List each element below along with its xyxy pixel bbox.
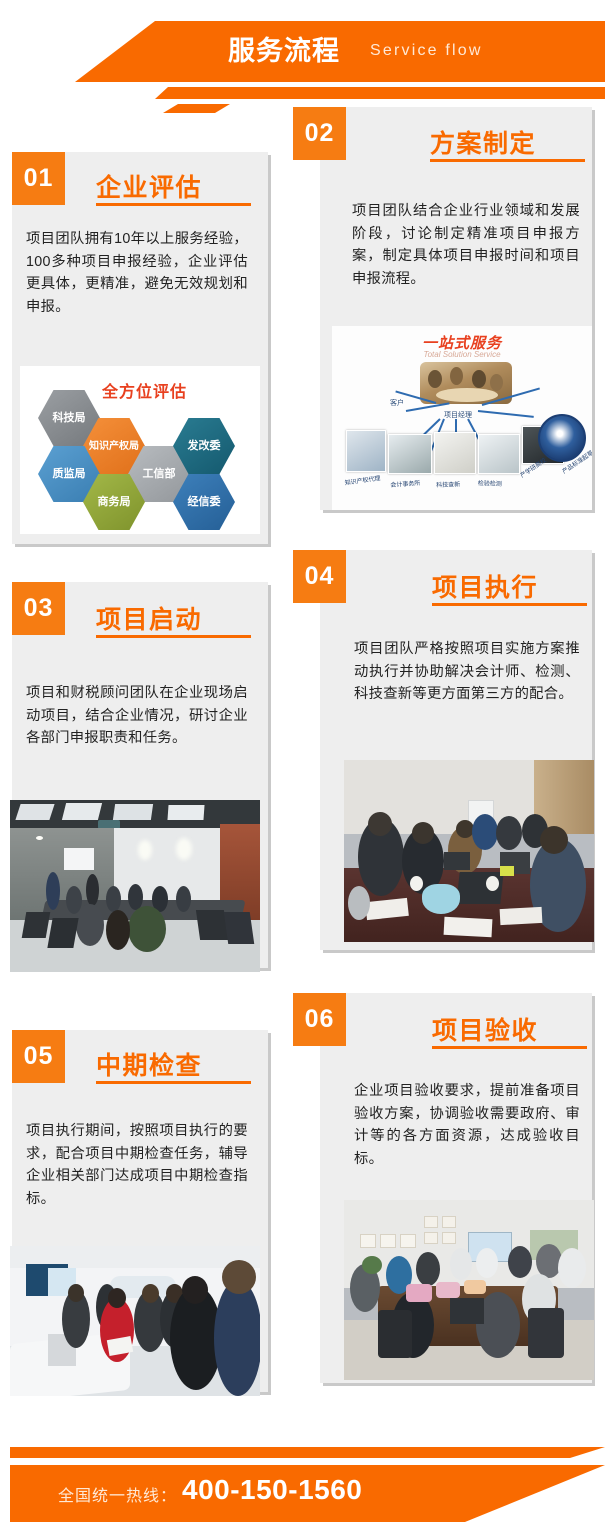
photo6-cert-f (424, 1232, 438, 1244)
card-05-title: 中期检查 (96, 1046, 202, 1082)
card-03-number-badge: 03 (12, 582, 65, 635)
one-stop-client-label: 客户 (390, 398, 404, 408)
photo4-person-5 (496, 816, 522, 850)
card-06-title-rule (432, 1046, 587, 1049)
header-stripe-shape (0, 87, 605, 99)
photo4-person-right-head (540, 826, 568, 854)
card-05-body: 项目执行期间，按照项目执行的要求，配合项目中期检查任务，辅导企业相关部门达成项目… (26, 1120, 248, 1210)
photo3-light-c (176, 838, 192, 860)
photo4-person-2-head (412, 822, 434, 844)
showroom-visit-photo (10, 1246, 260, 1396)
photo3-person-hair (106, 910, 130, 950)
photo3-person-green-coat (128, 906, 166, 952)
hub-person-d (490, 374, 503, 391)
card-03-body: 项目和财税顾问团队在企业现场启动项目，结合企业情况，研讨企业各部门申报职责和任务… (26, 682, 248, 750)
caption-accounting: 会计事务所 (390, 478, 421, 489)
photo3-light-a (36, 836, 43, 840)
node-ip-agency (346, 430, 386, 472)
hub-person-a (428, 370, 442, 388)
photo3-person-5 (176, 886, 191, 912)
photo6-cert-c (400, 1234, 416, 1248)
card-04-body: 项目团队严格按照项目实施方案推动执行并协助解决会计师、检测、科技查新等更方面第三… (354, 638, 580, 706)
card-01-body: 项目团队拥有10年以上服务经验，100多种项目申报经验，企业评估更具体，更精准，… (26, 228, 248, 318)
page-subtitle: Service flow (370, 42, 483, 60)
caption-ip-agency: 知识产权代理 (344, 473, 381, 487)
caption-tech-search: 科技查新 (436, 479, 460, 489)
card-02-title: 方案制定 (430, 124, 536, 160)
photo6-person-3 (416, 1252, 440, 1286)
photo3-light-b (138, 840, 152, 860)
card-06-number-badge: 06 (293, 993, 346, 1046)
arrow-7 (478, 410, 534, 418)
photo5-person-red-head (108, 1288, 126, 1308)
page-title: 服务流程 (228, 32, 340, 70)
photo6-laptop (450, 1298, 484, 1324)
card-06-body: 企业项目验收要求，提前准备项目验收方案，协调验收需要政府、审计等的各方面资源，达… (354, 1080, 580, 1170)
photo6-person-6 (508, 1246, 532, 1278)
card-06-title: 项目验收 (432, 1011, 538, 1047)
photo6-plant (362, 1256, 382, 1274)
photo6-person-4 (450, 1248, 472, 1280)
photo5-person-blue-jacket (214, 1280, 260, 1396)
photo3-ceiling-hex-c (113, 804, 153, 820)
hub-person-b (450, 367, 463, 385)
photo6-cert-g (442, 1232, 456, 1244)
photo6-person-8 (558, 1248, 586, 1288)
photo6-chair-right (528, 1308, 564, 1358)
all-round-assessment-chart: 全方位评估 科技局 知识产权局 质监局 工信部 商务局 发改委 经信委 (20, 366, 260, 534)
caption-inspection: 检验检测 (478, 478, 502, 488)
hub-table (436, 388, 498, 402)
photo6-cert-b (380, 1234, 396, 1248)
node-inspection (478, 434, 520, 474)
card-02-title-rule (430, 159, 585, 162)
photo3-chair-a (22, 912, 51, 938)
node-accounting (388, 434, 432, 474)
page-footer: 全国统一热线： 400-150-1560 (0, 1420, 605, 1538)
one-stop-subtitle: Total Solution Service (423, 350, 500, 359)
photo3-person-standing (46, 872, 60, 910)
hex-chart-title: 全方位评估 (102, 378, 187, 402)
photo4-teapot (422, 884, 460, 914)
photo6-person-5 (476, 1248, 498, 1278)
photo3-person-2 (106, 886, 121, 912)
photo4-person-4 (472, 814, 498, 850)
card-01-number-badge: 01 (12, 152, 65, 205)
card-04-title-rule (432, 603, 587, 606)
photo3-ceiling-hex-d (167, 805, 204, 820)
photo3-chair-d (224, 912, 254, 944)
card-02-body: 项目团队结合企业行业领域和发展阶段，讨论制定精准项目申报方案，制定具体项目申报时… (352, 200, 580, 290)
photo6-flowers-b (436, 1282, 460, 1298)
photo3-person-front (76, 904, 104, 946)
photo5-person-blue-head (222, 1260, 256, 1294)
photo4-paper-c (500, 907, 543, 925)
photo3-chair-b (47, 918, 78, 948)
acceptance-meeting-photo (344, 1200, 594, 1380)
card-01-title-rule (96, 203, 251, 206)
card-04-title: 项目执行 (432, 568, 538, 604)
hotline-phone[interactable]: 400-150-1560 (182, 1474, 362, 1506)
photo6-cert-a (360, 1234, 376, 1248)
photo3-ceiling-hex-a (15, 804, 54, 820)
card-05-number-badge: 05 (12, 1030, 65, 1083)
photo3-person-presenter (86, 874, 99, 906)
card-01-title: 企业评估 (96, 168, 202, 204)
conference-room-kickoff-photo (10, 800, 260, 972)
photo5-person-3-head (142, 1284, 159, 1303)
photo4-person-left-head (368, 812, 392, 836)
hotline-label: 全国统一热线： (58, 1482, 177, 1506)
photo3-whiteboard (64, 848, 94, 870)
node-tech-search (434, 432, 476, 474)
photo4-thermos (348, 886, 370, 920)
card-02-number-badge: 02 (293, 107, 346, 160)
card-03-title: 项目启动 (96, 600, 202, 636)
photo6-chair-left (378, 1310, 412, 1358)
working-meeting-laptops-photo (344, 760, 594, 942)
one-stop-service-diagram: 一站式服务 Total Solution Service 客户 项目经理 知识产… (332, 326, 592, 510)
photo6-cert-e (442, 1216, 456, 1228)
card-04-number-badge: 04 (293, 550, 346, 603)
photo5-person-black-head (182, 1276, 208, 1304)
photo4-paper-b (444, 917, 493, 937)
hub-person-c (472, 370, 486, 388)
photo4-highlighter (500, 866, 514, 876)
card-03-title-rule (96, 635, 251, 638)
photo4-cup-a (410, 876, 423, 891)
photo5-person-1-head (68, 1284, 84, 1302)
photo6-flowers-c (464, 1280, 486, 1294)
photo6-cert-d (424, 1216, 438, 1228)
photo6-flowers-a (406, 1284, 432, 1302)
card-05-title-rule (96, 1081, 251, 1084)
page-header: 服务流程 Service flow (0, 0, 605, 108)
photo4-cup-b (486, 876, 499, 891)
photo3-ceiling-hex-b (62, 803, 102, 820)
footer-stripe-shape (10, 1447, 605, 1458)
photo4-laptop-c (444, 852, 470, 870)
